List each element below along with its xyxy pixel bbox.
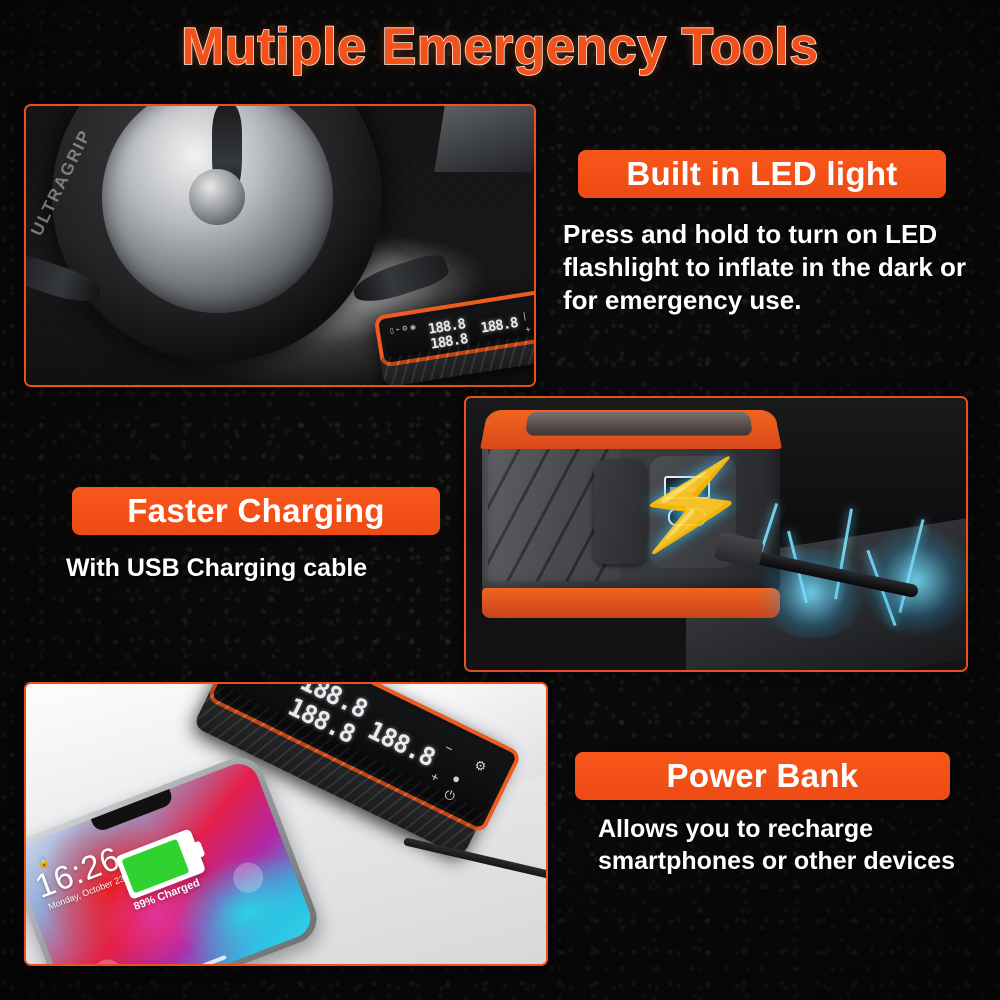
- phone-flashlight-button[interactable]: [88, 955, 127, 966]
- feature-image-charging: ⚡: [464, 396, 968, 672]
- car-wheel: ULTRAGRIP: [52, 104, 382, 362]
- feature-image-led: ULTRAGRIP ▯ ⌁ ⚙ ◉ 188.8 188.8 188.8 | ◉ …: [24, 104, 536, 387]
- wheel-hub: [189, 169, 244, 224]
- phone-home-indicator: [160, 955, 227, 966]
- description-faster-charging: With USB Charging cable: [66, 552, 486, 584]
- lcd-status-icons: ▯ ⌁ ⚙ ◉: [389, 323, 416, 335]
- feature-image-power-bank: ▮ ⌁ ⚙ ⛭ ◉ 188.8 188.8 188.8 − ⚙ + ● ⏻ 🔒 …: [24, 682, 548, 966]
- description-power-bank: Allows you to recharge smartphones or ot…: [598, 813, 988, 877]
- description-built-in-led-light: Press and hold to turn on LED flashlight…: [563, 218, 983, 317]
- page-title: Mutiple Emergency Tools: [0, 16, 1000, 78]
- lightning-bolt-icon: ⚡: [623, 433, 720, 573]
- curb-block: [434, 104, 536, 172]
- device-key-minus[interactable]: −: [442, 740, 455, 757]
- badge-built-in-led-light: Built in LED light: [578, 150, 946, 198]
- phone-camera-button[interactable]: [229, 858, 268, 897]
- device-key-minus: |: [522, 311, 526, 321]
- device-top-orange-trim: [480, 410, 782, 449]
- lcd-digit-group: 188.8: [479, 315, 518, 337]
- device-top-glass: [525, 412, 753, 436]
- device-key-plus[interactable]: +: [428, 769, 441, 786]
- badge-power-bank: Power Bank: [575, 752, 950, 800]
- device-bottom-orange-trim: [482, 588, 780, 618]
- device-key-settings[interactable]: ⚙: [471, 756, 488, 775]
- badge-faster-charging: Faster Charging: [72, 487, 440, 535]
- device-key-light[interactable]: ●: [450, 770, 464, 787]
